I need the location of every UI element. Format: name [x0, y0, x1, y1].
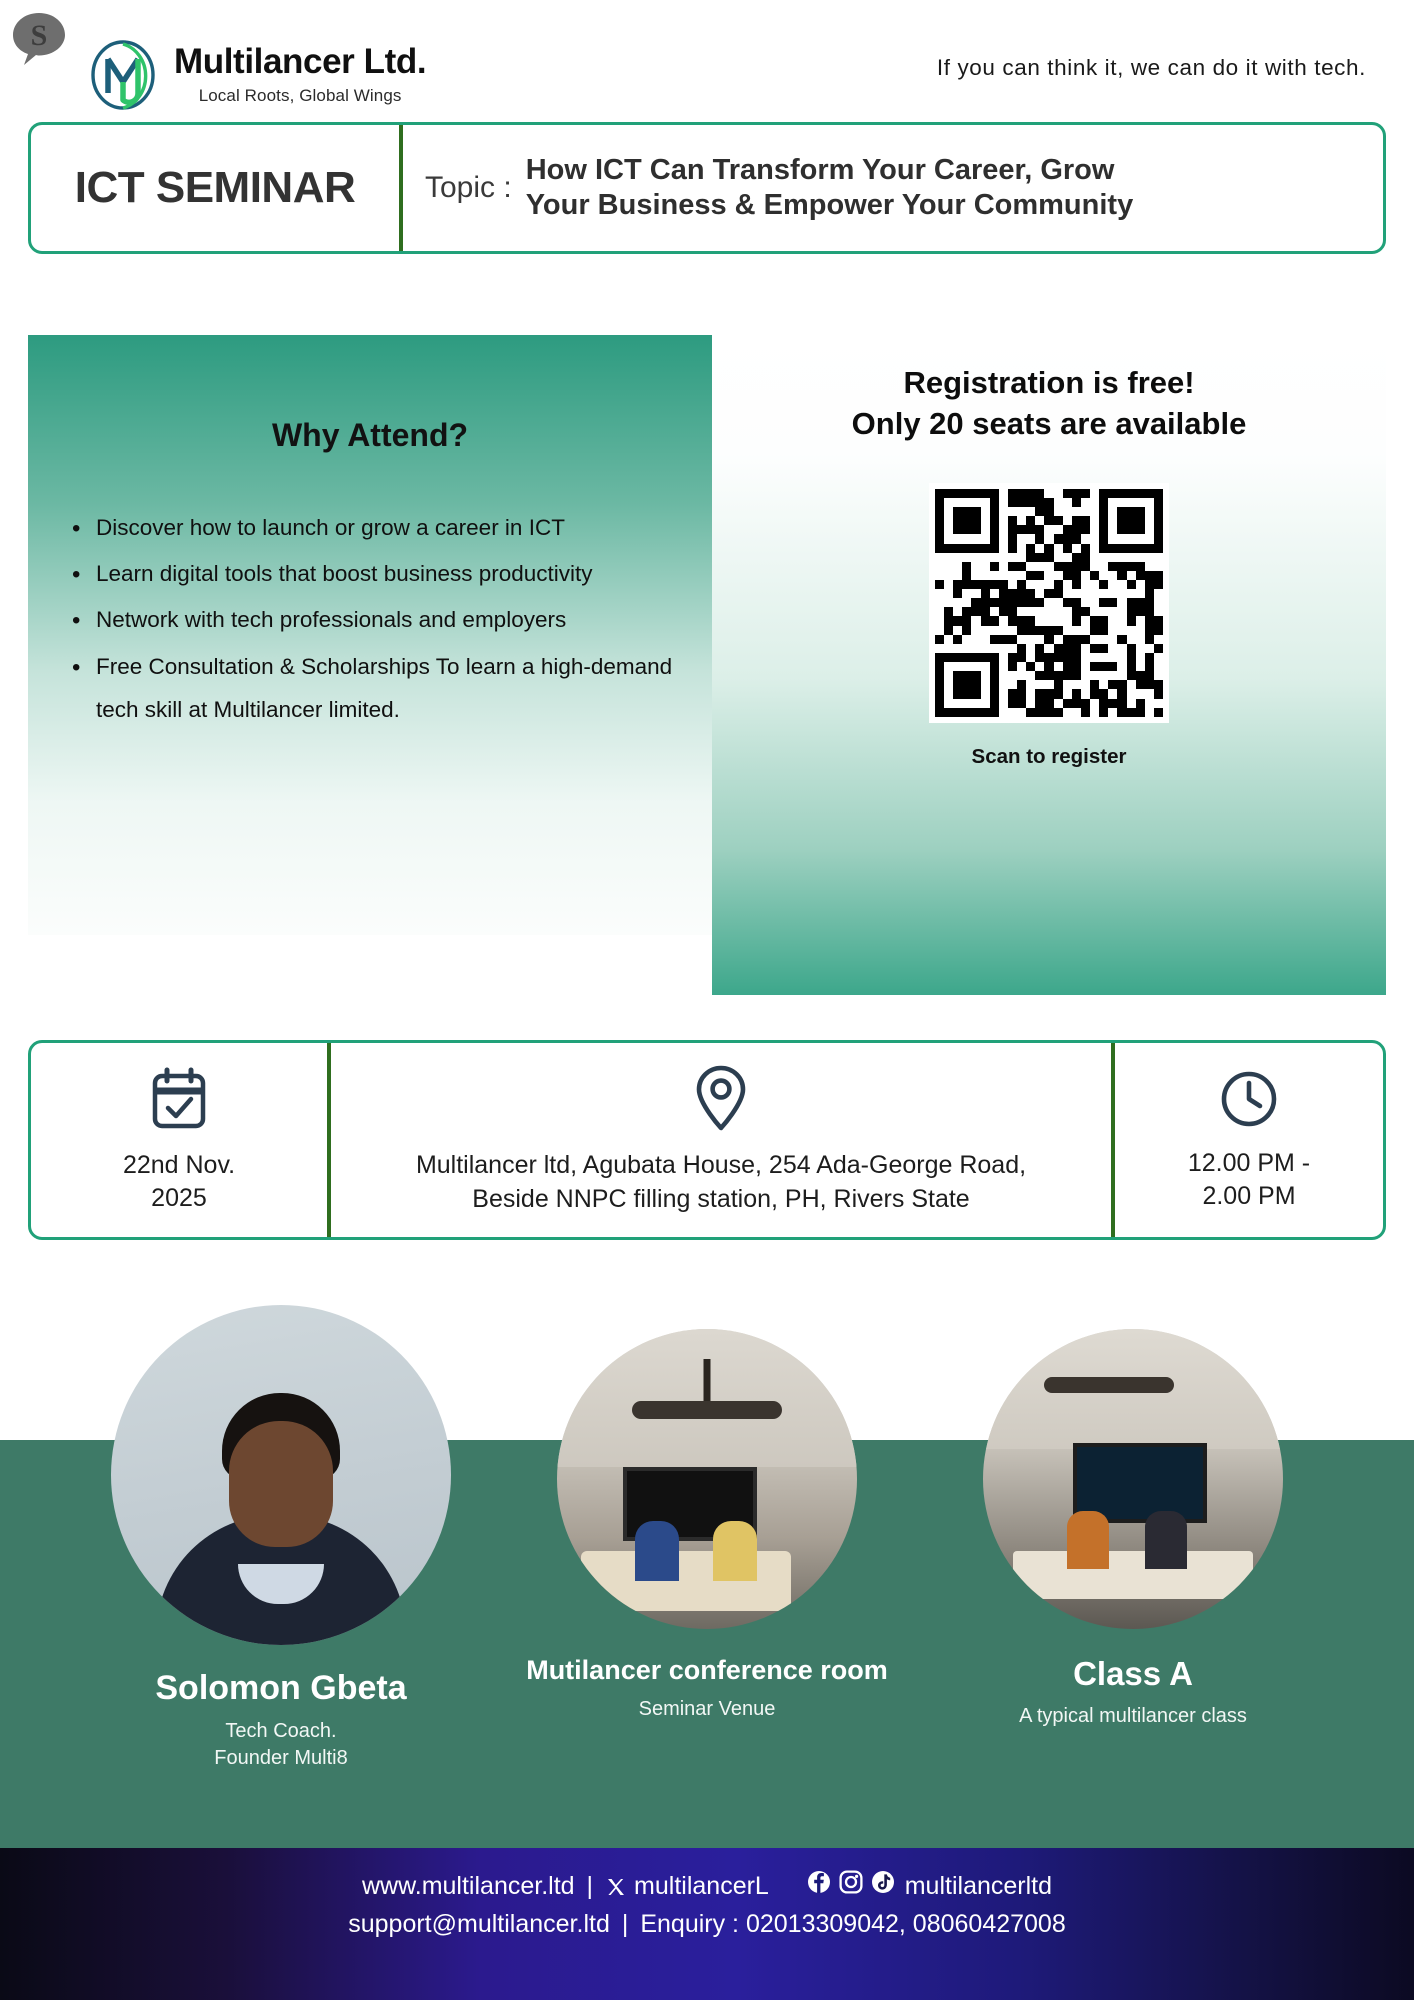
x-twitter-icon — [605, 1876, 627, 1898]
brand-name: Multilancer Ltd. — [174, 44, 426, 81]
people-row: Solomon Gbeta Tech Coach. Founder Multi8… — [0, 1305, 1414, 1772]
why-attend-panel: Why Attend? Discover how to launch or gr… — [28, 335, 712, 935]
info-venue-line-1: Multilancer ltd, Agubata House, 254 Ada-… — [416, 1149, 1026, 1183]
registration-heading: Registration is free! Only 20 seats are … — [852, 363, 1247, 445]
footer-line-2: support@multilancer.ltd | Enquiry : 0201… — [0, 1906, 1414, 1944]
calendar-check-icon — [148, 1066, 210, 1137]
registration-panel: Registration is free! Only 20 seats are … — [712, 335, 1386, 995]
tiktok-icon — [871, 1868, 895, 1906]
scan-to-register-label: Scan to register — [972, 745, 1127, 769]
list-item: Network with tech professionals and empl… — [62, 598, 678, 641]
map-pin-icon — [693, 1064, 749, 1137]
person-card: Class A A typical multilancer class — [933, 1305, 1333, 1772]
person-role-line-2: Founder Multi8 — [81, 1745, 481, 1772]
footer-email[interactable]: support@multilancer.ltd — [348, 1906, 610, 1944]
qr-code-icon[interactable] — [929, 483, 1169, 723]
footer-social-handle: multilancerltd — [905, 1868, 1052, 1906]
footer-divider: | — [587, 1868, 594, 1906]
topic-line-1: How ICT Can Transform Your Career, Grow — [526, 153, 1134, 188]
info-cell-date: 22nd Nov. 2025 — [31, 1043, 331, 1237]
footer-spacer — [781, 1868, 795, 1906]
info-venue-line-2: Beside NNPC filling station, PH, Rivers … — [416, 1183, 1026, 1217]
poster-root: S Multilancer Ltd. Local Roots, Global W… — [0, 0, 1414, 2000]
info-date-line-1: 22nd Nov. — [123, 1149, 235, 1182]
person-role-line-1: Seminar Venue — [507, 1696, 907, 1723]
info-date-line-2: 2025 — [123, 1182, 235, 1215]
classroom-photo-icon — [983, 1329, 1283, 1629]
why-attend-list: Discover how to launch or grow a career … — [28, 454, 712, 731]
multilancer-m-logo-icon — [86, 38, 160, 112]
registration-line-1: Registration is free! — [852, 363, 1247, 404]
info-cell-time: 12.00 PM - 2.00 PM — [1115, 1043, 1383, 1237]
person-name: Class A — [933, 1655, 1333, 1693]
person-name: Solomon Gbeta — [81, 1669, 481, 1708]
person-role: Seminar Venue — [507, 1696, 907, 1723]
footer-line-1: www.multilancer.ltd | multilancerL — [0, 1868, 1414, 1906]
person-role: Tech Coach. Founder Multi8 — [81, 1718, 481, 1772]
person-role: A typical multilancer class — [933, 1703, 1333, 1730]
topic-text: How ICT Can Transform Your Career, Grow … — [526, 153, 1134, 224]
facebook-icon — [807, 1868, 831, 1906]
header-tagline: If you can think it, we can do it with t… — [937, 55, 1366, 81]
topic-label: Topic : — [425, 171, 512, 205]
registration-line-2: Only 20 seats are available — [852, 404, 1247, 445]
footer-x-handle: multilancerL — [634, 1868, 769, 1906]
brand-block: Multilancer Ltd. Local Roots, Global Win… — [86, 38, 426, 112]
list-item: Free Consultation & Scholarships To lear… — [62, 645, 678, 731]
topic-line-2: Your Business & Empower Your Community — [526, 188, 1134, 223]
footer-phones[interactable]: 02013309042, 08060427008 — [746, 1906, 1066, 1944]
clock-icon — [1218, 1068, 1280, 1135]
person-role-line-1: Tech Coach. — [81, 1718, 481, 1745]
why-attend-heading: Why Attend? — [28, 335, 712, 454]
seminar-title-box: ICT SEMINAR Topic : How ICT Can Transfor… — [28, 122, 1386, 254]
speaker-portrait-photo-icon — [111, 1305, 451, 1645]
instagram-icon — [839, 1868, 863, 1906]
brand-slogan: Local Roots, Global Wings — [174, 86, 426, 106]
person-card: Solomon Gbeta Tech Coach. Founder Multi8 — [81, 1305, 481, 1772]
info-cell-venue: Multilancer ltd, Agubata House, 254 Ada-… — [331, 1043, 1115, 1237]
info-time-line-1: 12.00 PM - — [1188, 1147, 1310, 1180]
seminar-topic-cell: Topic : How ICT Can Transform Your Caree… — [403, 125, 1383, 251]
list-item: Discover how to launch or grow a career … — [62, 506, 678, 549]
footer-divider-2: | — [622, 1906, 629, 1944]
event-info-bar: 22nd Nov. 2025 Multilancer ltd, Agubata … — [28, 1040, 1386, 1240]
info-time-text: 12.00 PM - 2.00 PM — [1188, 1147, 1310, 1212]
footer-content: www.multilancer.ltd | multilancerL — [0, 1868, 1414, 1943]
footer-social-accounts[interactable]: multilancerltd — [807, 1868, 1052, 1906]
info-time-line-2: 2.00 PM — [1188, 1180, 1310, 1213]
seminar-badge-label: ICT SEMINAR — [75, 163, 356, 213]
info-venue-text: Multilancer ltd, Agubata House, 254 Ada-… — [416, 1149, 1026, 1216]
person-name: Mutilancer conference room — [507, 1655, 907, 1686]
list-item: Learn digital tools that boost business … — [62, 552, 678, 595]
info-date-text: 22nd Nov. 2025 — [123, 1149, 235, 1214]
svg-text:S: S — [31, 19, 48, 52]
chat-bubble-s-badge-icon: S — [8, 8, 70, 70]
mid-section: Why Attend? Discover how to launch or gr… — [28, 335, 1386, 995]
footer-website[interactable]: www.multilancer.ltd — [362, 1868, 575, 1906]
person-card: Mutilancer conference room Seminar Venue — [507, 1305, 907, 1772]
person-role-line-1: A typical multilancer class — [933, 1703, 1333, 1730]
footer-accent-bar — [0, 1840, 1414, 1848]
conference-room-photo-icon — [557, 1329, 857, 1629]
poster-footer: www.multilancer.ltd | multilancerL — [0, 1840, 1414, 2000]
footer-x-account[interactable]: multilancerL — [605, 1868, 769, 1906]
seminar-badge-cell: ICT SEMINAR — [31, 125, 403, 251]
footer-enquiry-label: Enquiry : — [640, 1906, 739, 1944]
